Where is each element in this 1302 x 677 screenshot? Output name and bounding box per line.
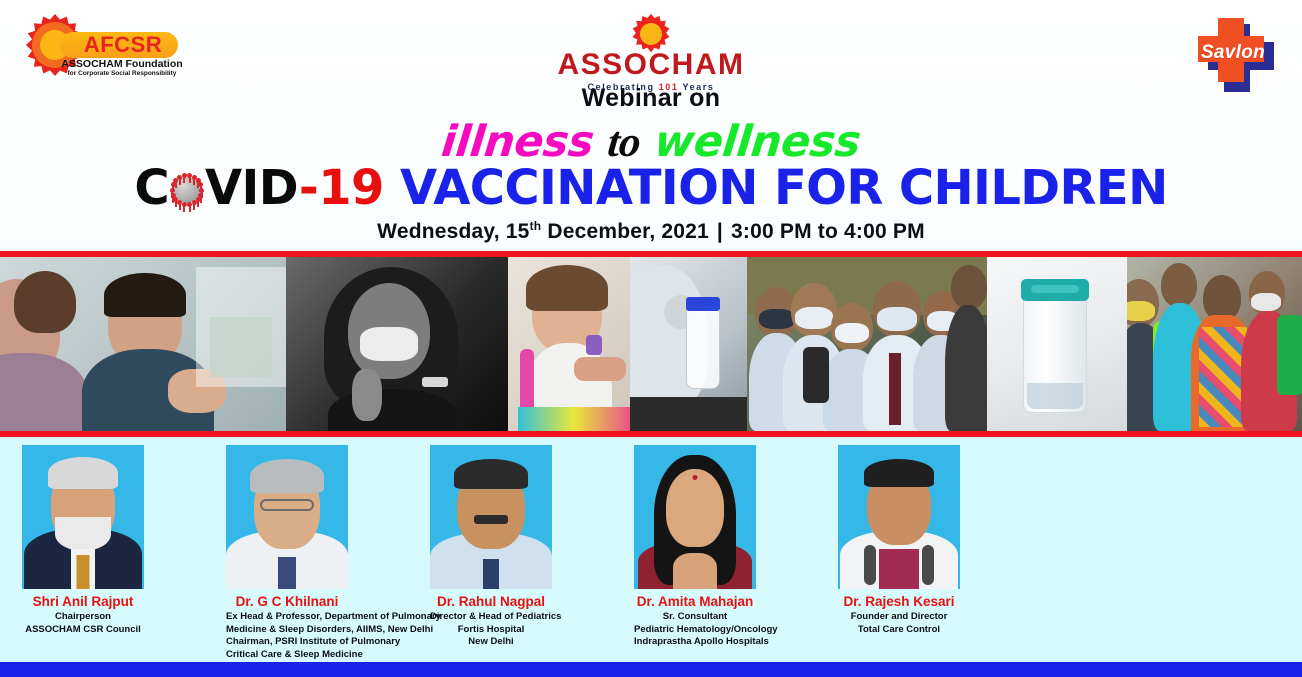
sun-icon [631, 14, 671, 54]
assocham-logo: ASSOCHAM Celebrating 101 Years [536, 14, 766, 76]
afcsr-acronym: AFCSR [68, 33, 178, 57]
speaker-role-line: Sr. Consultant [634, 611, 756, 623]
datetime-separator: | [709, 220, 731, 243]
speaker-role-line: Chairperson [22, 611, 144, 623]
speaker-card-1: Shri Anil Rajput Chairperson ASSOCHAM CS… [22, 445, 144, 635]
photo-masked-girl [286, 257, 508, 431]
speaker-role-line: Pediatric Hematology/Oncology [634, 624, 756, 636]
event-datetime: Wednesday, 15th December, 2021|3:00 PM t… [0, 219, 1302, 244]
avatar [838, 445, 960, 589]
speaker-name: Dr. G C Khilnani [226, 594, 348, 610]
afcsr-logo: AFCSR ASSOCHAM Foundation for Corporate … [24, 14, 184, 80]
speaker-role-line: Chairman, PSRI Institute of Pulmonary [226, 636, 348, 648]
savlon-wordmark: Savlon [1198, 42, 1268, 64]
speaker-role-line: Indraprastha Apollo Hospitals [634, 636, 756, 648]
speaker-role-line: ASSOCHAM CSR Council [22, 624, 144, 636]
speaker-role-line: Founder and Director [838, 611, 960, 623]
speaker-role-line: Medicine & Sleep Disorders, AIIMS, New D… [226, 624, 348, 636]
event-time: 3:00 PM to 4:00 PM [731, 220, 925, 243]
webinar-poster: AFCSR ASSOCHAM Foundation for Corporate … [0, 0, 1302, 677]
speakers-list: Shri Anil Rajput Chairperson ASSOCHAM CS… [0, 437, 990, 662]
speaker-name: Dr. Amita Mahajan [634, 594, 756, 610]
avatar [226, 445, 348, 589]
assocham-wordmark: ASSOCHAM [536, 50, 766, 80]
speaker-role-line: Total Care Control [838, 624, 960, 636]
speaker-role-line: Critical Care & Sleep Medicine [226, 649, 348, 661]
webinar-on-label: Webinar on [0, 84, 1302, 113]
footer-bar [0, 662, 1302, 677]
avatar [22, 445, 144, 589]
headline-rest: VACCINATION FOR CHILDREN [384, 160, 1168, 216]
speaker-role-line: Director & Head of Pediatrics [430, 611, 552, 623]
speakers-panel: Shri Anil Rajput Chairperson ASSOCHAM CS… [0, 437, 1302, 662]
avatar [634, 445, 756, 589]
event-weekday-day: Wednesday, 15 [377, 220, 529, 243]
afcsr-subtitle-line: for Corporate Social Responsibility [60, 70, 184, 78]
speaker-role-line: Ex Head & Professor, Department of Pulmo… [226, 611, 348, 623]
photo-vaccine-vial [987, 257, 1127, 431]
speaker-card-2: Dr. G C Khilnani Ex Head & Professor, De… [226, 445, 348, 660]
photo-strip-band [0, 251, 1302, 437]
photo-strip [0, 257, 1302, 431]
speaker-name: Shri Anil Rajput [22, 594, 144, 610]
poster-header: AFCSR ASSOCHAM Foundation for Corporate … [0, 0, 1302, 245]
speaker-card-3: Dr. Rahul Nagpal Director & Head of Pedi… [430, 445, 552, 648]
photo-school-children [747, 257, 987, 431]
afcsr-foundation-line: ASSOCHAM Foundation [60, 59, 184, 70]
speaker-role-line: New Delhi [430, 636, 552, 648]
event-month-year: December, 2021 [541, 220, 709, 243]
page-title: CVID-19 VACCINATION FOR CHILDREN [0, 160, 1302, 216]
coronavirus-icon [168, 171, 206, 209]
speaker-role-line: Fortis Hospital [430, 624, 552, 636]
brand-to: to [605, 119, 642, 166]
speaker-name: Dr. Rahul Nagpal [430, 594, 552, 610]
headline-covid-prefix: C [134, 160, 169, 216]
headline-19: -19 [299, 160, 384, 216]
speaker-card-4: Dr. Amita Mahajan Sr. Consultant Pediatr… [634, 445, 756, 648]
headline-covid-suffix: VID [205, 160, 299, 216]
photo-girl-injection [508, 257, 630, 431]
speaker-name: Dr. Rajesh Kesari [838, 594, 960, 610]
avatar [430, 445, 552, 589]
savlon-logo: Savlon [1192, 16, 1278, 92]
photo-nurse-vaccinating-boy [0, 257, 286, 431]
photo-children-backpacks [1127, 257, 1302, 431]
speaker-card-5: Dr. Rajesh Kesari Founder and Director T… [838, 445, 960, 635]
photo-hand-holding-vial [630, 257, 747, 431]
date-ordinal: th [530, 219, 542, 233]
